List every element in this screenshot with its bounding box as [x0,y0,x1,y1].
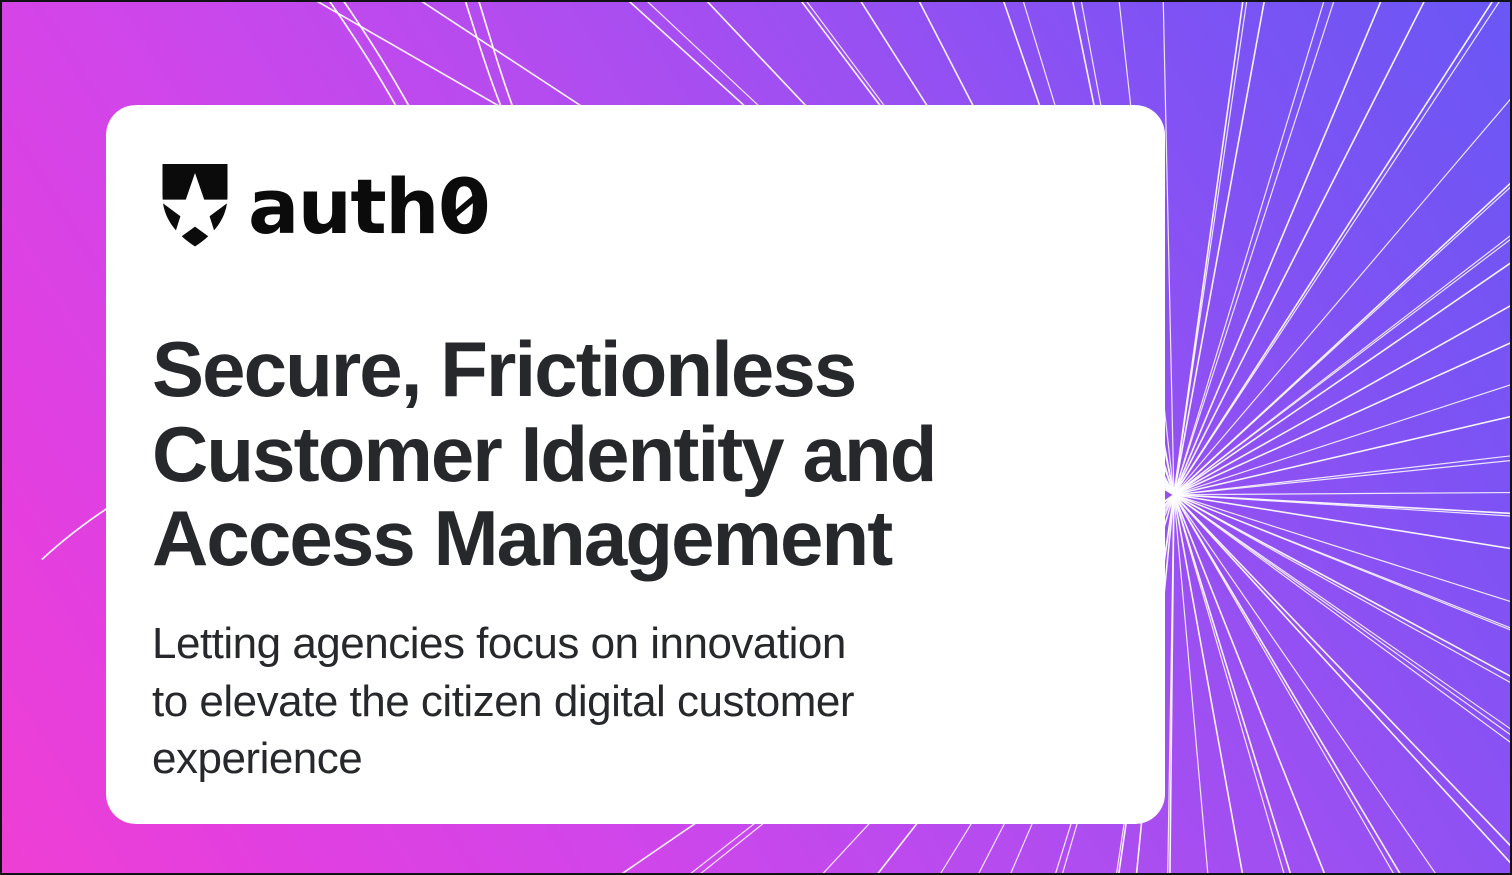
auth0-wordmark: auth0 [248,169,489,245]
page-title: Secure, Frictionless Customer Identity a… [152,327,1052,581]
page-subtitle: Letting agencies focus on innovation to … [152,615,1082,788]
auth0-logo: auth0 [156,161,1105,249]
headline-line-2: Customer Identity and [152,410,936,498]
wordmark-prefix: auth [248,162,438,251]
content-card: auth0 Secure, Frictionless Customer Iden… [106,105,1165,824]
headline-line-3: Access Management [152,494,891,582]
subhead-line-1: Letting agencies focus on innovation [152,619,846,668]
subhead-line-3: experience [152,734,362,783]
auth0-shield-star-icon [156,162,234,248]
subhead-line-2: to elevate the citizen digital customer [152,677,854,726]
wordmark-slashed-zero: 0 [438,169,489,245]
promo-canvas: auth0 Secure, Frictionless Customer Iden… [0,0,1512,875]
headline-line-1: Secure, Frictionless [152,325,855,413]
